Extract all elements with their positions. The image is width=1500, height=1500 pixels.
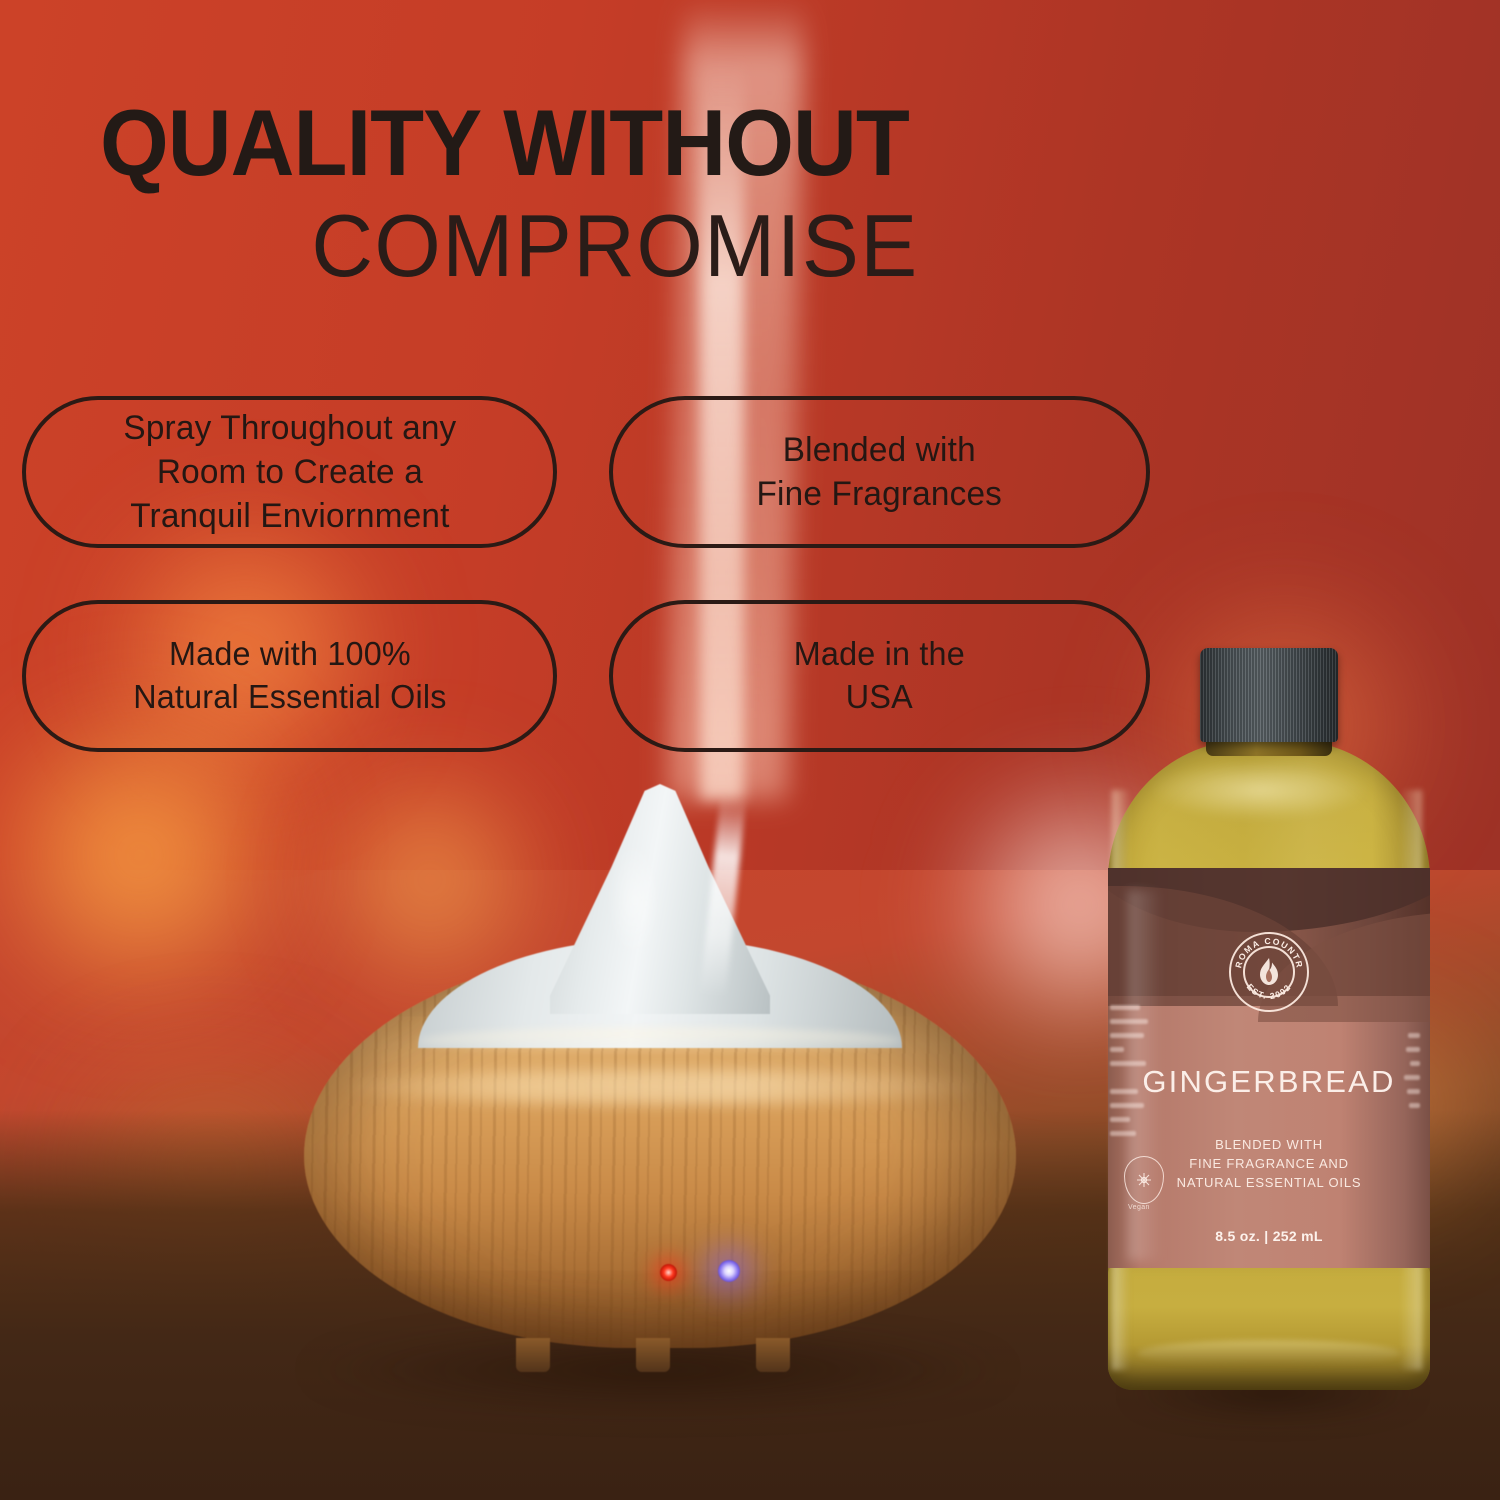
feature-pill-list: Spray Throughout any Room to Create a Tr… xyxy=(22,396,1150,752)
feature-pill-made-in-usa: Made in the USA xyxy=(609,600,1150,752)
feature-pill-label: Blended with Fine Fragrances xyxy=(757,428,1003,516)
feature-pill-label: Made in the USA xyxy=(794,633,965,719)
diffuser-rim-light xyxy=(418,1028,902,1054)
brand-arc-text: AROMA COUNTRY EST. 2002 xyxy=(1231,934,1307,1010)
headline-line-2: COMPROMISE xyxy=(115,202,1114,290)
diffuser-foot xyxy=(756,1338,790,1372)
diffuser-base-sheen xyxy=(338,1070,988,1104)
bottle-bottom xyxy=(1108,1264,1430,1390)
feature-pill-spray-throughout-room: Spray Throughout any Room to Create a Tr… xyxy=(22,396,557,548)
feature-pill-blended-fine-fragrances: Blended with Fine Fragrances xyxy=(609,396,1150,548)
diffuser-highlight xyxy=(608,840,660,960)
bottle-bottom-ring xyxy=(1138,1340,1400,1366)
led-indicator-red-icon xyxy=(660,1264,677,1281)
page-title: QUALITY WITHOUT COMPROMISE xyxy=(100,98,1130,290)
oil-bottle-product-photo: AROMA COUNTRY EST. 2002 GINGERBREAD BLEN… xyxy=(1098,640,1438,1400)
diffuser-foot xyxy=(636,1338,670,1372)
headline-line-1: QUALITY WITHOUT xyxy=(100,98,1068,188)
led-indicator-blue-icon xyxy=(718,1260,740,1282)
feature-pill-natural-essential-oils: Made with 100% Natural Essential Oils xyxy=(22,600,557,752)
bottle-top-highlight xyxy=(1150,760,1370,820)
brand-arc-bottom-text: EST. 2002 xyxy=(1245,982,1293,1001)
diffuser-product-photo xyxy=(278,770,1038,1410)
diffuser-foot xyxy=(516,1338,550,1372)
bottle-glare xyxy=(1128,890,1162,1260)
feature-pill-label: Spray Throughout any Room to Create a Tr… xyxy=(123,406,456,539)
brand-arc-top-text: AROMA COUNTRY xyxy=(1231,934,1305,969)
product-marketing-image: AROMA COUNTRY EST. 2002 GINGERBREAD BLEN… xyxy=(0,0,1500,1500)
bottle-cap xyxy=(1200,648,1338,742)
feature-pill-label: Made with 100% Natural Essential Oils xyxy=(133,633,446,719)
brand-logo-badge: AROMA COUNTRY EST. 2002 xyxy=(1229,932,1309,1012)
